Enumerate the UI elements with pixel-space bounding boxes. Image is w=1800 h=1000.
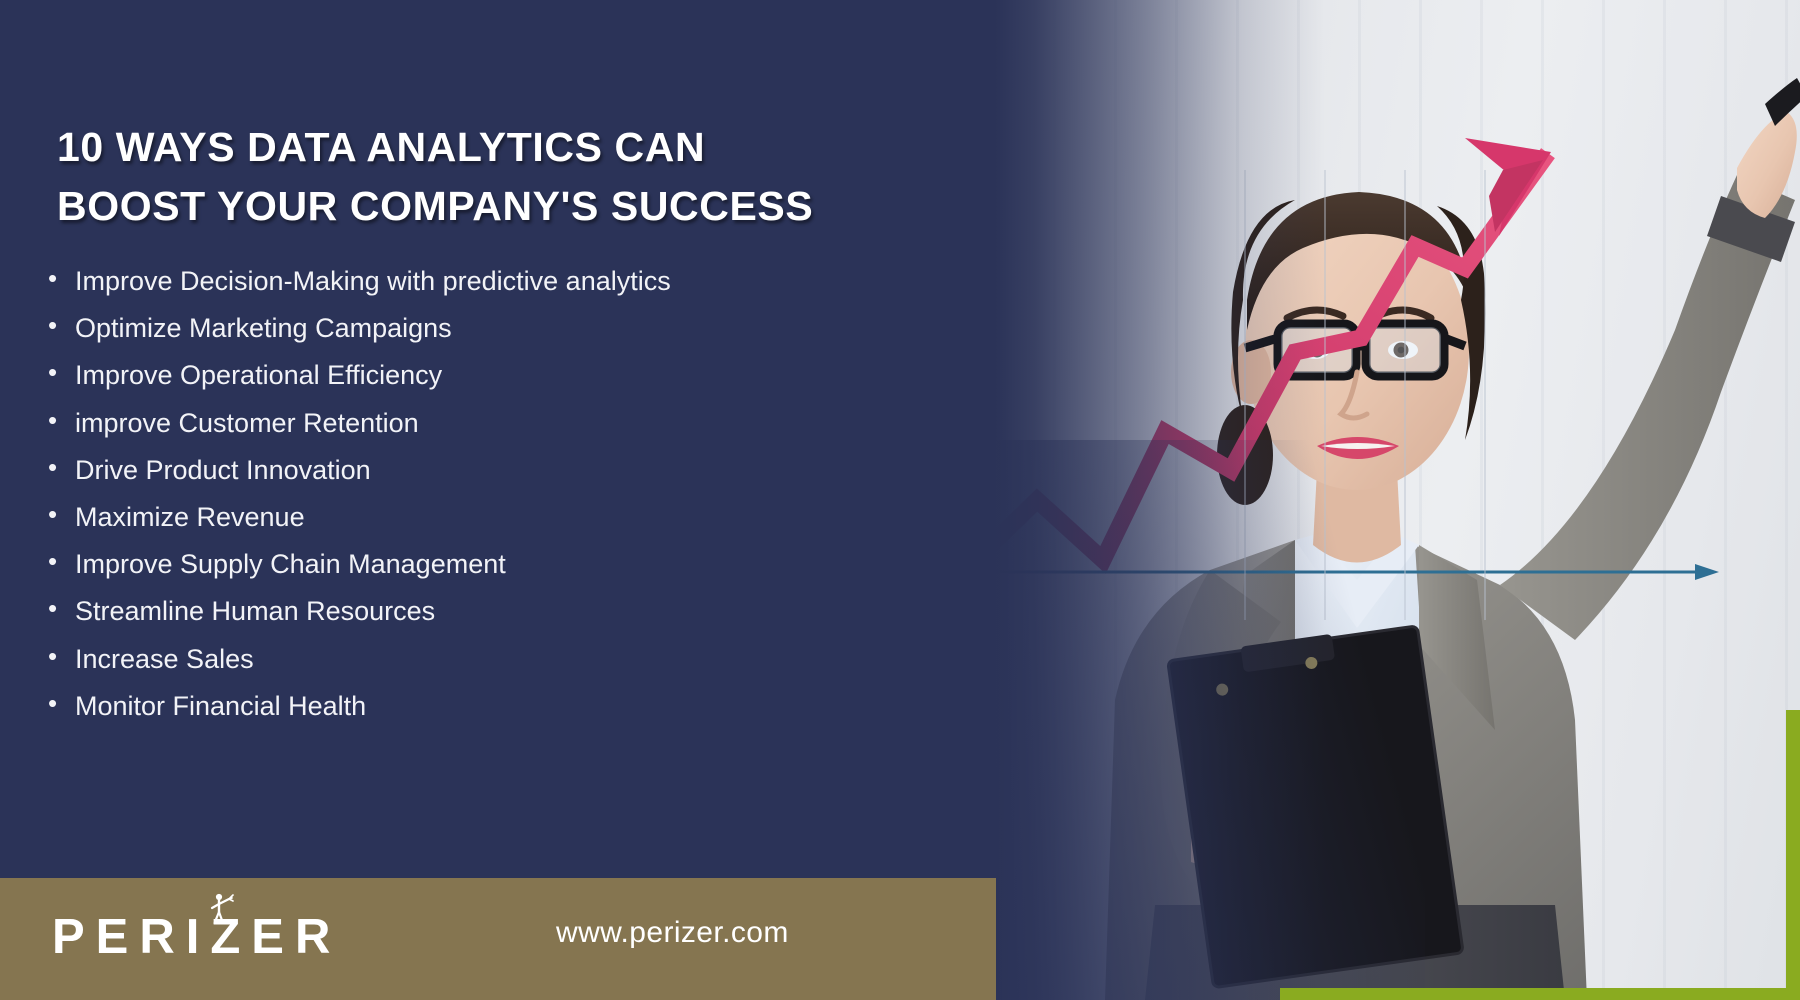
- list-item: Drive Product Innovation: [44, 457, 944, 484]
- list-item: Maximize Revenue: [44, 504, 944, 531]
- list-item: Improve Decision-Making with predictive …: [44, 268, 944, 295]
- list-item: Monitor Financial Health: [44, 693, 944, 720]
- benefits-list: Improve Decision-Making with predictive …: [44, 268, 944, 740]
- list-item: Improve Supply Chain Management: [44, 551, 944, 578]
- brand-logo[interactable]: PERIZER: [52, 906, 341, 968]
- photo-bottom-gradient-overlay: [995, 440, 1425, 1000]
- green-accent-bar-bottom: [1280, 988, 1800, 1000]
- brand-logo-text: PERIZER: [52, 913, 341, 962]
- list-item: Improve Operational Efficiency: [44, 362, 944, 389]
- person-figure-icon: [209, 893, 235, 927]
- page-title-line-2: BOOST YOUR COMPANY'S SUCCESS: [57, 177, 937, 236]
- list-item: improve Customer Retention: [44, 410, 944, 437]
- green-accent-bar-right: [1786, 710, 1800, 1000]
- list-item: Increase Sales: [44, 646, 944, 673]
- footer-bar: PERIZER www.perizer.com: [0, 878, 996, 1000]
- page-title-line-1: 10 WAYS DATA ANALYTICS CAN: [57, 118, 937, 177]
- page-title: 10 WAYS DATA ANALYTICS CAN BOOST YOUR CO…: [57, 118, 937, 237]
- slide-root: 10 WAYS DATA ANALYTICS CAN BOOST YOUR CO…: [0, 0, 1800, 1000]
- content-panel: 10 WAYS DATA ANALYTICS CAN BOOST YOUR CO…: [0, 0, 1000, 878]
- list-item: Optimize Marketing Campaigns: [44, 315, 944, 342]
- website-url[interactable]: www.perizer.com: [556, 916, 789, 950]
- hero-photo-panel: [995, 0, 1800, 1000]
- list-item: Streamline Human Resources: [44, 598, 944, 625]
